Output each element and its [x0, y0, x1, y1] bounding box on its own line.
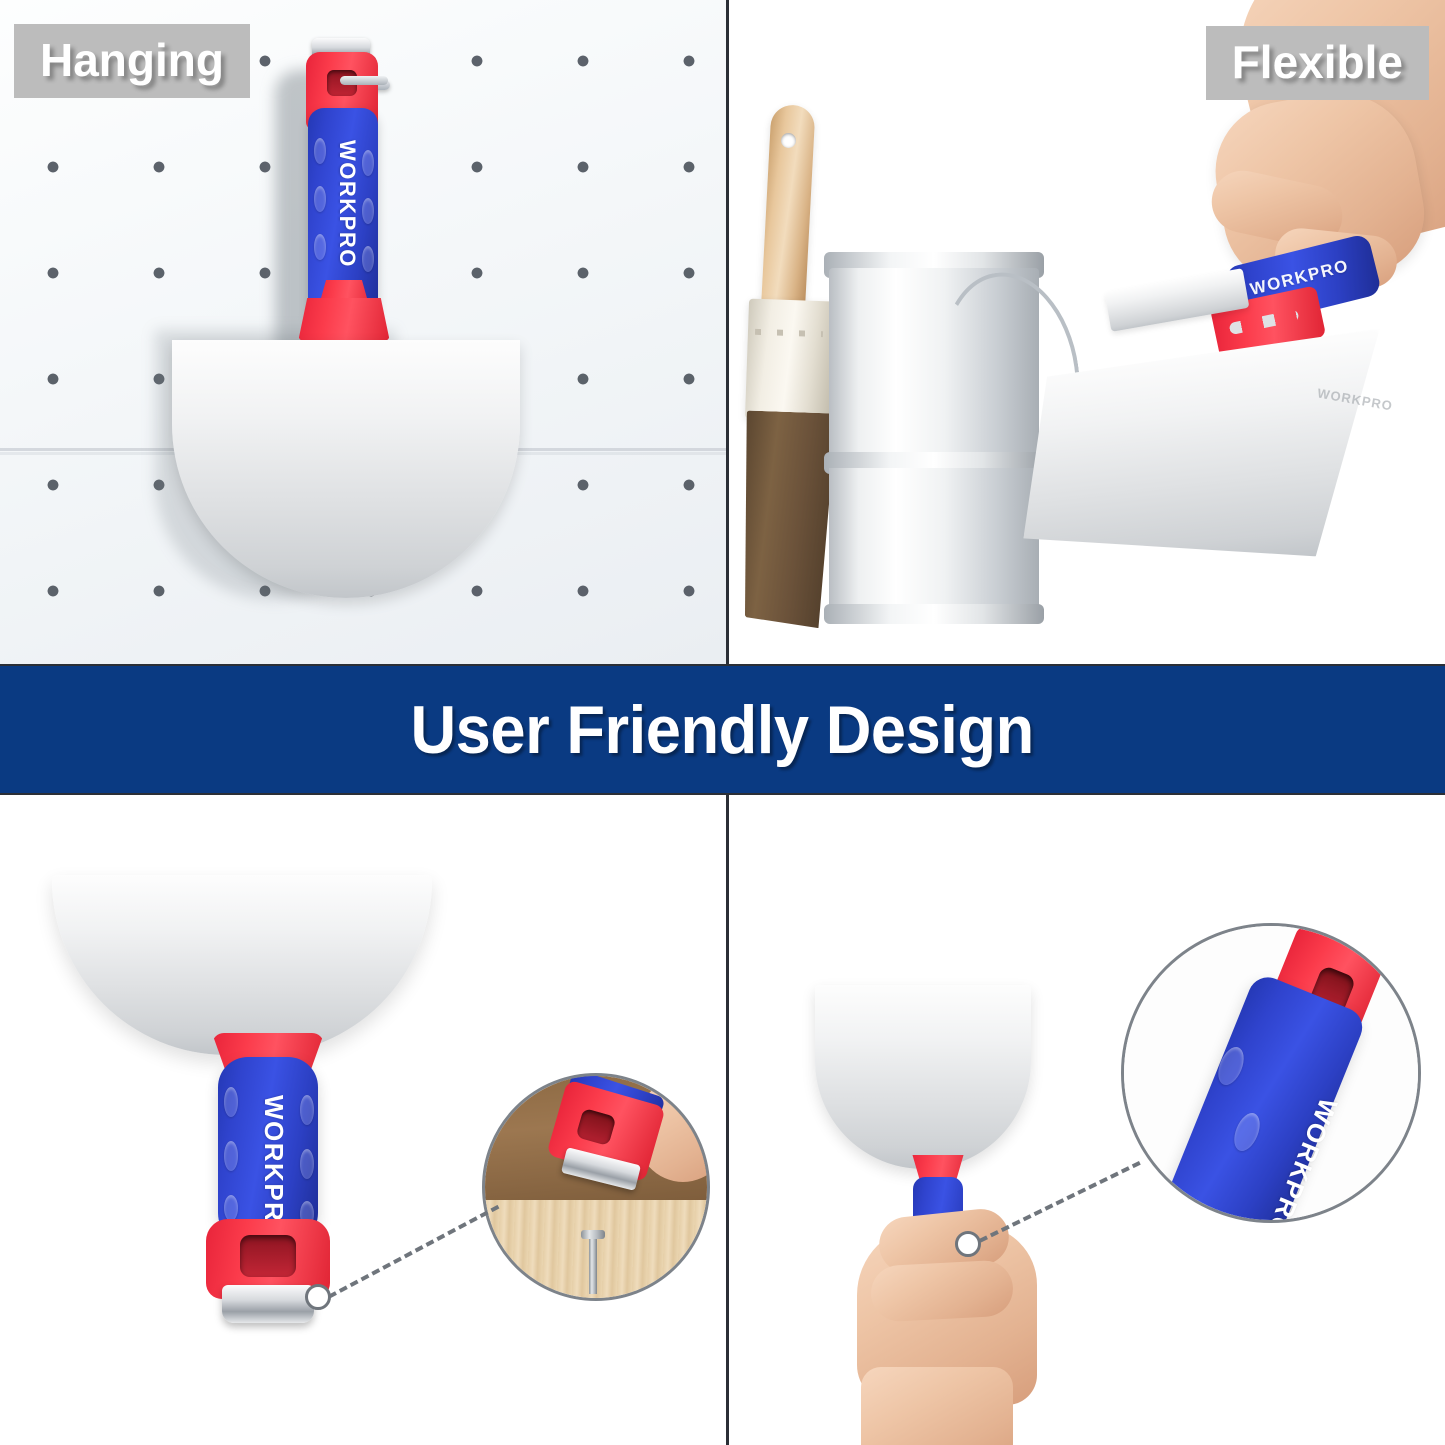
grip-bump-3 — [314, 234, 326, 260]
grip-bump-s1 — [224, 1087, 238, 1117]
caption-flexible-line-1: Flexible — [1232, 37, 1403, 89]
hook-through-hole — [340, 76, 388, 85]
hang-hole-standing — [240, 1235, 296, 1277]
banner-user-friendly-design: User Friendly Design — [0, 666, 1445, 794]
inset-nail-head — [581, 1230, 605, 1239]
inset-nail-shaft — [589, 1236, 597, 1294]
grip-bump-s2 — [224, 1141, 238, 1171]
divider-vertical-top — [726, 0, 729, 666]
brand-logo-hanging: WORKPRO — [334, 140, 360, 268]
paint-can-base — [824, 604, 1044, 624]
divider-horizontal-bottom — [0, 793, 1445, 795]
divider-vertical-bottom — [726, 795, 729, 1445]
finger-mid — [870, 1259, 1015, 1322]
callout-marker-antislip — [955, 1231, 981, 1257]
panel-hammer-end: WORKPRO Hammer End — [0, 795, 726, 1445]
caption-hanging-line-1: Hanging — [40, 35, 224, 87]
wrist — [861, 1367, 1013, 1445]
grip-bump-1 — [314, 138, 326, 164]
panel-flexible: WORKPRO WORKPRO Flexible — [729, 0, 1445, 666]
handle-ferrule-base — [298, 298, 390, 342]
panel-hanging: WORKPRO Hanging — [0, 0, 726, 666]
banner-title: User Friendly Design — [411, 691, 1034, 769]
infographic-canvas: WORKPRO Hanging — [0, 0, 1445, 1445]
divider-horizontal-top — [0, 664, 1445, 666]
caption-hanging: Hanging — [14, 24, 250, 98]
inset-hammer-end — [482, 1073, 710, 1301]
hammer-end-metal — [222, 1285, 314, 1323]
grip-bump-6 — [362, 246, 374, 272]
grip-bump-4 — [362, 150, 374, 176]
grip-bump-2 — [314, 186, 326, 212]
brush-hang-hole — [781, 133, 796, 148]
brush-ferrule — [745, 299, 833, 422]
paint-can-lower — [829, 468, 1039, 618]
caption-flexible: Flexible — [1206, 26, 1429, 100]
grip-bump-5 — [362, 198, 374, 224]
inset-anti-slip-handle: WORKPRO — [1121, 923, 1421, 1223]
grip-bump-s3 — [224, 1195, 238, 1221]
panel-anti-slip: WORKPRO anti-slip Fingerprint — [729, 795, 1445, 1445]
callout-marker-hammer — [305, 1284, 331, 1310]
grip-bump-s5 — [300, 1149, 314, 1179]
grip-bump-s4 — [300, 1095, 314, 1125]
